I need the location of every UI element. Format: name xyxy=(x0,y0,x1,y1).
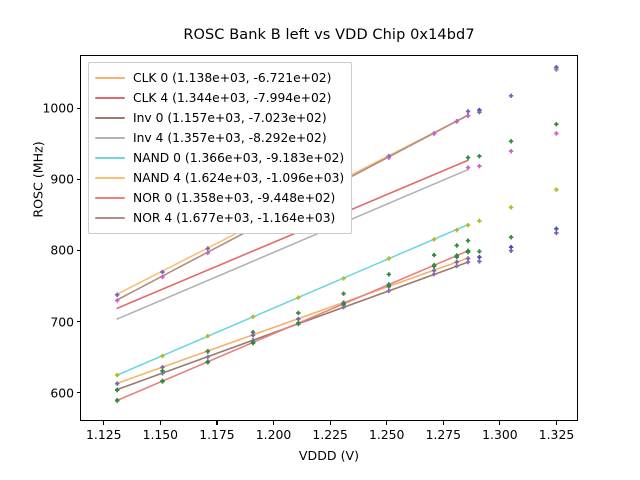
x-tick-label: 1.200 xyxy=(246,427,302,442)
x-tick-mark xyxy=(330,421,331,425)
scatter-point xyxy=(509,139,513,143)
x-tick-mark xyxy=(386,421,387,425)
legend: CLK 0 (1.138e+03, -6.721e+02)CLK 4 (1.34… xyxy=(88,62,352,234)
legend-item-nor-0[interactable]: NOR 0 (1.358e+03, -9.448e+02) xyxy=(95,188,344,208)
legend-color-swatch xyxy=(95,77,125,79)
x-tick-label: 1.250 xyxy=(359,427,415,442)
legend-color-swatch xyxy=(95,157,125,159)
legend-item-inv-0[interactable]: Inv 0 (1.157e+03, -7.023e+02) xyxy=(95,108,344,128)
x-tick-mark xyxy=(556,421,557,425)
x-tick-mark xyxy=(499,421,500,425)
legend-label: NAND 4 (1.624e+03, -1.096e+03) xyxy=(133,172,344,184)
legend-item-nor-4[interactable]: NOR 4 (1.677e+03, -1.164e+03) xyxy=(95,208,344,228)
x-tick-mark xyxy=(216,421,217,425)
scatter-point xyxy=(477,164,481,168)
fit-line xyxy=(117,251,468,401)
legend-label: CLK 4 (1.344e+03, -7.994e+02) xyxy=(133,92,331,104)
scatter-point xyxy=(554,131,558,135)
x-tick-label: 1.225 xyxy=(302,427,358,442)
x-tick-labels: 1.1251.1501.1751.2001.2251.2501.2751.300… xyxy=(80,427,578,447)
x-tick-mark xyxy=(103,421,104,425)
scatter-point xyxy=(477,219,481,223)
legend-item-clk-4[interactable]: CLK 4 (1.344e+03, -7.994e+02) xyxy=(95,88,344,108)
scatter-point xyxy=(115,373,119,377)
y-tick-mark xyxy=(77,321,81,322)
legend-item-nand-4[interactable]: NAND 4 (1.624e+03, -1.096e+03) xyxy=(95,168,344,188)
legend-color-swatch xyxy=(95,197,125,199)
scatter-point xyxy=(466,155,470,159)
legend-color-swatch xyxy=(95,97,125,99)
x-tick-label: 1.175 xyxy=(189,427,245,442)
fit-line xyxy=(117,225,468,375)
x-tick-mark xyxy=(160,421,161,425)
scatter-point xyxy=(115,398,119,402)
scatter-point xyxy=(477,249,481,253)
chart-title: ROSC Bank B left vs VDD Chip 0x14bd7 xyxy=(80,27,578,43)
scatter-point xyxy=(466,238,470,242)
fit-line xyxy=(117,258,468,383)
y-tick-mark xyxy=(77,179,81,180)
legend-label: NOR 4 (1.677e+03, -1.164e+03) xyxy=(133,212,335,224)
legend-label: CLK 0 (1.138e+03, -6.721e+02) xyxy=(133,72,331,84)
scatter-point xyxy=(477,259,481,263)
legend-label: NOR 0 (1.358e+03, -9.448e+02) xyxy=(133,192,335,204)
scatter-point xyxy=(296,311,300,315)
x-tick-label: 1.125 xyxy=(76,427,132,442)
scatter-point xyxy=(509,249,513,253)
scatter-point xyxy=(466,114,470,118)
scatter-point xyxy=(554,122,558,126)
y-tick-mark xyxy=(77,392,81,393)
y-axis-label: ROSC (MHz) xyxy=(31,114,46,246)
x-tick-label: 1.275 xyxy=(415,427,471,442)
scatter-point xyxy=(466,109,470,113)
y-tick-label: 600 xyxy=(30,385,74,400)
chart-figure: ROSC Bank B left vs VDD Chip 0x14bd7 600… xyxy=(0,0,640,480)
scatter-point xyxy=(432,253,436,257)
scatter-point xyxy=(509,149,513,153)
scatter-point xyxy=(466,223,470,227)
legend-color-swatch xyxy=(95,217,125,219)
scatter-point xyxy=(455,243,459,247)
legend-label: Inv 0 (1.157e+03, -7.023e+02) xyxy=(133,112,327,124)
legend-color-swatch xyxy=(95,137,125,139)
scatter-point xyxy=(341,291,345,295)
y-tick-mark xyxy=(77,250,81,251)
scatter-point xyxy=(554,187,558,191)
x-tick-label: 1.150 xyxy=(132,427,188,442)
legend-label: NAND 0 (1.366e+03, -9.183e+02) xyxy=(133,152,344,164)
x-tick-mark xyxy=(443,421,444,425)
x-tick-label: 1.325 xyxy=(528,427,584,442)
scatter-point xyxy=(554,231,558,235)
legend-label: Inv 4 (1.357e+03, -8.292e+02) xyxy=(133,132,327,144)
legend-item-inv-4[interactable]: Inv 4 (1.357e+03, -8.292e+02) xyxy=(95,128,344,148)
scatter-point xyxy=(466,165,470,169)
legend-item-clk-0[interactable]: CLK 0 (1.138e+03, -6.721e+02) xyxy=(95,68,344,88)
scatter-point xyxy=(509,235,513,239)
scatter-point xyxy=(387,289,391,293)
scatter-point xyxy=(455,260,459,264)
scatter-point xyxy=(387,272,391,276)
legend-color-swatch xyxy=(95,177,125,179)
x-tick-mark xyxy=(273,421,274,425)
x-axis-label: VDDD (V) xyxy=(80,448,578,463)
scatter-point xyxy=(477,154,481,158)
y-tick-label: 700 xyxy=(30,314,74,329)
scatter-point xyxy=(477,255,481,259)
scatter-point xyxy=(509,205,513,209)
scatter-point xyxy=(466,260,470,264)
x-tick-label: 1.300 xyxy=(472,427,528,442)
legend-item-nand-0[interactable]: NAND 0 (1.366e+03, -9.183e+02) xyxy=(95,148,344,168)
y-tick-mark xyxy=(77,108,81,109)
legend-color-swatch xyxy=(95,117,125,119)
scatter-point xyxy=(509,94,513,98)
scatter-point xyxy=(554,227,558,231)
